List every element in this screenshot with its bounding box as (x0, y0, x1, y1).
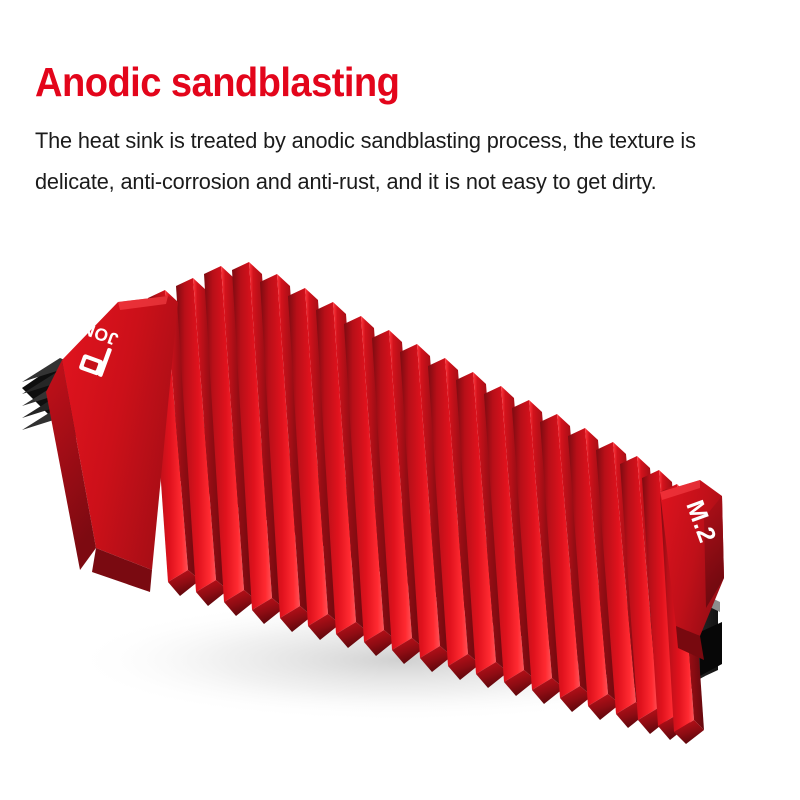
copy-block: Anodic sandblasting The heat sink is tre… (35, 62, 775, 202)
product-feature-page: Anodic sandblasting The heat sink is tre… (0, 0, 800, 800)
product-image: JONSBO M.2 (0, 240, 800, 770)
description-text: The heat sink is treated by anodic sandb… (35, 103, 749, 202)
page-title: Anodic sandblasting (35, 62, 723, 103)
